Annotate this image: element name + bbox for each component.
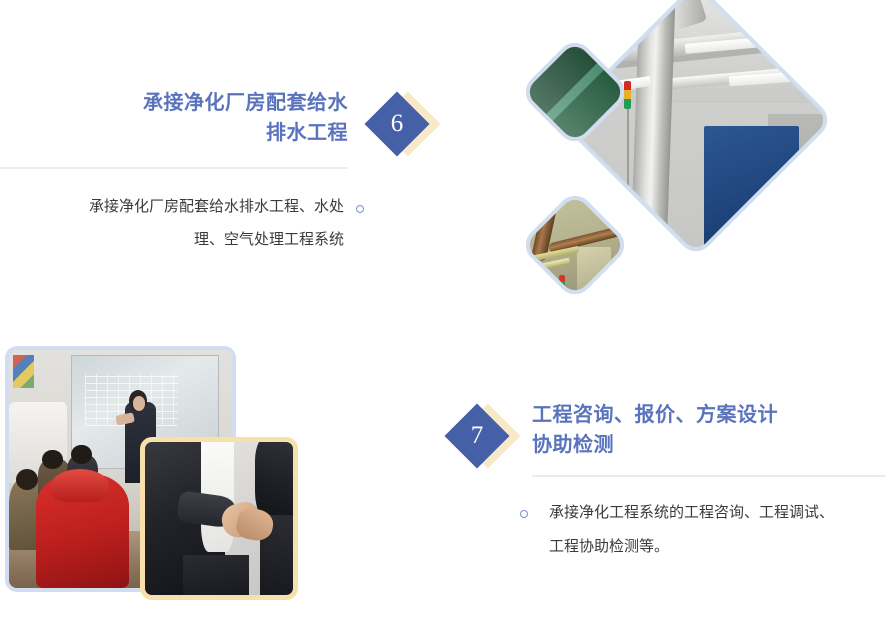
- section-7-body: 承接净化工程系统的工程咨询、工程调试、 工程协助检测等。: [520, 496, 886, 564]
- section-7-divider: [532, 475, 886, 477]
- section-6-title: 承接净化厂房配套给水 排水工程: [48, 88, 348, 148]
- section-6-description: 承接净化厂房配套给水排水工程、水处 理、空气处理工程系统: [0, 190, 344, 256]
- pipes-valves-artwork: [518, 188, 631, 301]
- section-7-description: 承接净化工程系统的工程咨询、工程调试、 工程协助检测等。: [549, 496, 886, 564]
- section-7-bullet-icon: [520, 510, 528, 518]
- photo-business-handshake: [140, 437, 298, 600]
- section-6-body: 承接净化厂房配套给水排水工程、水处 理、空气处理工程系统: [0, 190, 392, 256]
- section-6-header: 承接净化厂房配套给水 排水工程: [0, 88, 392, 160]
- page-root: 承接净化厂房配套给水 排水工程 承接净化厂房配套给水排水工程、水处 理、空气处理…: [0, 0, 886, 624]
- photo-pipes-valves-room-surface: [518, 188, 631, 301]
- badge-6-number-label: 6: [374, 101, 420, 147]
- badge-number-7: 7: [448, 404, 524, 480]
- badge-7-number-label: 7: [454, 413, 500, 459]
- section-6-bullet-icon: [356, 205, 364, 213]
- section-6: 承接净化厂房配套给水 排水工程: [0, 88, 392, 160]
- photo-business-handshake-surface: [145, 442, 293, 595]
- section-7-title: 工程咨询、报价、方案设计 协助检测: [532, 400, 872, 460]
- section-6-divider: [0, 167, 348, 169]
- photo-pipes-valves-room: [518, 188, 631, 301]
- handshake-artwork: [145, 442, 293, 595]
- badge-number-6: 6: [368, 92, 444, 168]
